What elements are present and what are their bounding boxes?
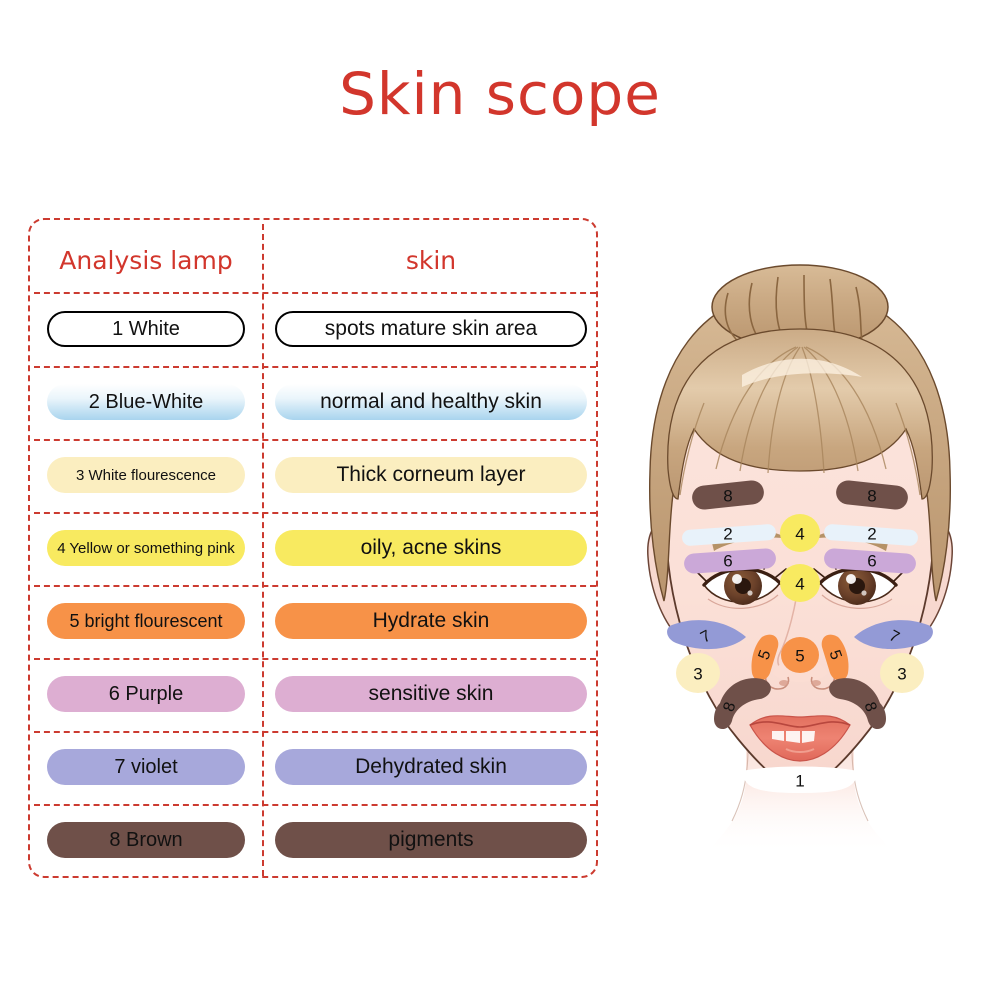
table-row[interactable]: 2 Blue-White normal and healthy skin <box>30 379 600 425</box>
row-2-lamp-cell: 2 Blue-White <box>30 384 262 420</box>
marker-glabella-lower[interactable]: 4 <box>780 564 820 602</box>
row-3-skin-cell: Thick corneum layer <box>262 457 600 493</box>
lamp-pill-8[interactable]: 8 Brown <box>47 822 245 858</box>
marker-cheek-right[interactable]: 3 <box>880 653 924 693</box>
marker-label-eyelid-right: 6 <box>867 552 876 571</box>
table-divider-6 <box>34 658 596 660</box>
marker-label-eyelid-left: 6 <box>723 552 732 571</box>
table-divider-8 <box>34 804 596 806</box>
page-title: Skin scope <box>0 60 1000 128</box>
page-root: Skin scope Analysis lamp skin 1 White s <box>0 0 1000 1000</box>
marker-label-nose-tip: 5 <box>795 647 804 666</box>
face-diagram: 8 8 2 2 4 4 6 6 <box>600 255 1000 935</box>
row-8-lamp-cell: 8 Brown <box>30 822 262 858</box>
table-header-row: Analysis lamp skin <box>30 234 600 286</box>
marker-label-forehead-left: 8 <box>723 487 732 506</box>
skin-pill-4[interactable]: oily, acne skins <box>275 530 587 566</box>
marker-label-glabella-upper: 4 <box>795 525 804 544</box>
lamp-pill-4[interactable]: 4 Yellow or something pink <box>47 530 245 566</box>
lamp-pill-3[interactable]: 3 White flourescence <box>47 457 245 493</box>
lamp-pill-7[interactable]: 7 violet <box>47 749 245 785</box>
row-7-skin-cell: Dehydrated skin <box>262 749 600 785</box>
skin-pill-2[interactable]: normal and healthy skin <box>275 384 587 420</box>
row-6-skin-cell: sensitive skin <box>262 676 600 712</box>
marker-chin[interactable]: 1 <box>742 767 858 794</box>
marker-label-brow-left: 2 <box>723 525 732 544</box>
header-cell-skin: skin <box>262 246 600 275</box>
lamp-pill-2[interactable]: 2 Blue-White <box>47 384 245 420</box>
marker-cheek-left[interactable]: 3 <box>676 653 720 693</box>
header-cell-lamp: Analysis lamp <box>30 246 262 275</box>
marker-label-glabella-lower: 4 <box>795 575 804 594</box>
marker-nose-tip[interactable]: 5 <box>781 637 819 673</box>
marker-label-cheek-left: 3 <box>693 665 702 684</box>
skin-pill-6[interactable]: sensitive skin <box>275 676 587 712</box>
table-row[interactable]: 3 White flourescence Thick corneum layer <box>30 452 600 498</box>
row-4-lamp-cell: 4 Yellow or something pink <box>30 530 262 566</box>
skin-pill-3[interactable]: Thick corneum layer <box>275 457 587 493</box>
skin-pill-7[interactable]: Dehydrated skin <box>275 749 587 785</box>
skin-pill-8[interactable]: pigments <box>275 822 587 858</box>
marker-label-cheek-right: 3 <box>897 665 906 684</box>
header-label-skin: skin <box>406 246 456 275</box>
skin-pill-5[interactable]: Hydrate skin <box>275 603 587 639</box>
face-illustration-svg: 8 8 2 2 4 4 6 6 <box>600 255 1000 935</box>
table-row[interactable]: 8 Brown pigments <box>30 817 600 863</box>
row-1-skin-cell: spots mature skin area <box>262 311 600 347</box>
table-row[interactable]: 5 bright flourescent Hydrate skin <box>30 598 600 644</box>
marker-label-chin: 1 <box>795 772 804 791</box>
table-row[interactable]: 1 White spots mature skin area <box>30 306 600 352</box>
lamp-pill-5[interactable]: 5 bright flourescent <box>47 603 245 639</box>
lamp-pill-6[interactable]: 6 Purple <box>47 676 245 712</box>
marker-label-forehead-right: 8 <box>867 487 876 506</box>
table-row[interactable]: 4 Yellow or something pink oily, acne sk… <box>30 525 600 571</box>
row-6-lamp-cell: 6 Purple <box>30 676 262 712</box>
row-5-skin-cell: Hydrate skin <box>262 603 600 639</box>
legend-table: Analysis lamp skin 1 White spots mature … <box>28 218 598 878</box>
marker-glabella-upper[interactable]: 4 <box>780 514 820 552</box>
row-1-lamp-cell: 1 White <box>30 311 262 347</box>
table-divider-3 <box>34 439 596 441</box>
table-divider-1 <box>34 292 596 294</box>
table-divider-5 <box>34 585 596 587</box>
table-row[interactable]: 6 Purple sensitive skin <box>30 671 600 717</box>
skin-pill-1[interactable]: spots mature skin area <box>275 311 587 347</box>
table-divider-4 <box>34 512 596 514</box>
table-divider-2 <box>34 366 596 368</box>
row-7-lamp-cell: 7 violet <box>30 749 262 785</box>
row-5-lamp-cell: 5 bright flourescent <box>30 603 262 639</box>
lamp-pill-1[interactable]: 1 White <box>47 311 245 347</box>
table-row[interactable]: 7 violet Dehydrated skin <box>30 744 600 790</box>
row-8-skin-cell: pigments <box>262 822 600 858</box>
row-3-lamp-cell: 3 White flourescence <box>30 457 262 493</box>
header-label-lamp: Analysis lamp <box>59 246 232 275</box>
row-4-skin-cell: oily, acne skins <box>262 530 600 566</box>
marker-label-brow-right: 2 <box>867 525 876 544</box>
table-divider-7 <box>34 731 596 733</box>
row-2-skin-cell: normal and healthy skin <box>262 384 600 420</box>
